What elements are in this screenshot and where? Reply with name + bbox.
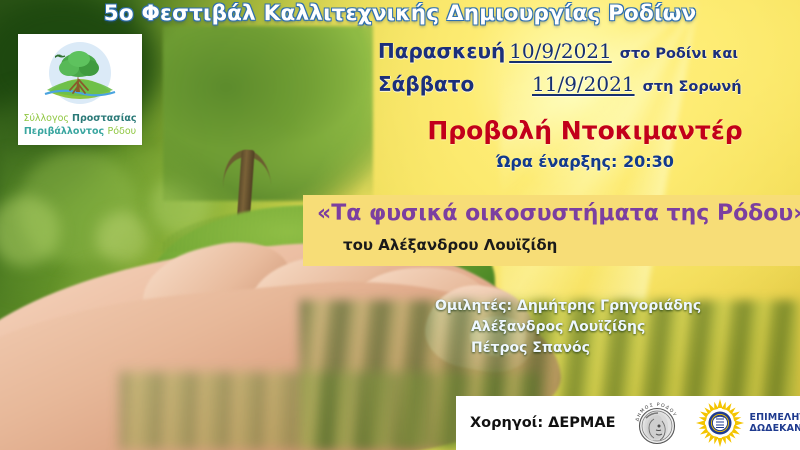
- film-title-band: «Τα φυσικά οικοσυστήματα της Ρόδου» του …: [303, 195, 800, 266]
- association-logo-line2-a: Περιβάλλοντος: [24, 126, 108, 137]
- film-author: του Αλέξανδρου Λουϊζίδη: [343, 236, 557, 254]
- bokeh-blob: [96, 212, 148, 264]
- association-logo-line2: Περιβάλλοντος Ρόδου: [18, 126, 142, 137]
- date-day-label: Σάββατο: [378, 69, 528, 99]
- dates-block: Παρασκευή 10/9/2021 στο Ροδίνι και Σάββα…: [378, 36, 790, 102]
- speaker-name-2: Αλέξανδρος Λουϊζίδης: [435, 317, 701, 338]
- association-logo-line1-a: Σύλλογος: [23, 113, 72, 124]
- speaker-name-3: Πέτρος Σπανός: [435, 338, 701, 359]
- date-day-label: Παρασκευή: [378, 36, 505, 66]
- speakers-block: Ομιλητές: Δημήτρης Γρηγοριάδης Αλέξανδρο…: [435, 296, 701, 359]
- speaker-name-1: Δημήτρης Γρηγοριάδης: [517, 298, 701, 314]
- chamber-text-line1: ΕΠΙΜΕΛΗΤΗΡΙΟ: [750, 412, 800, 423]
- chamber-logo-text: ΕΠΙΜΕΛΗΤΗΡΙΟ ΔΩΔΕΚΑΝΗΣΟΥ: [750, 412, 800, 434]
- chamber-logo-group: ΕΠΙΜΕΛΗΤΗΡΙΟ ΔΩΔΕΚΑΝΗΣΟΥ: [696, 399, 800, 447]
- sponsors-bar: Χορηγοί: ΔΕΡΜΑΕ ΔΗΜΟΣ ΡΟΔΟΥ: [456, 396, 800, 450]
- association-logo-line1: Σύλλογος Προστασίας: [18, 113, 142, 124]
- association-logo-line1-b: Προστασίας: [72, 113, 137, 124]
- chamber-text-line2: ΔΩΔΕΚΑΝΗΣΟΥ: [750, 423, 800, 434]
- poster-canvas: 5ο Φεστιβάλ Καλλιτεχνικής Δημιουργίας Ρο…: [0, 0, 800, 450]
- date-row-saturday: Σάββατο 11/9/2021 στη Σορωνή: [378, 69, 790, 102]
- tree-in-circle-icon: [37, 40, 123, 112]
- sponsors-label: Χορηγοί: ΔΕΡΜΑΕ: [470, 415, 616, 431]
- association-logo-line2-b: Ρόδου: [107, 126, 136, 137]
- start-time-label: Ώρα έναρξης: 20:30: [380, 152, 790, 171]
- documentary-heading: Προβολή Ντοκιμαντέρ: [380, 116, 790, 145]
- date-place: στη Σορωνή: [643, 72, 742, 102]
- epimelitirio-dodekanisou-sun-icon: [696, 399, 744, 447]
- date-value: 11/9/2021: [532, 69, 635, 99]
- association-logo: Σύλλογος Προστασίας Περιβάλλοντος Ρόδου: [18, 34, 142, 145]
- date-row-friday: Παρασκευή 10/9/2021 στο Ροδίνι και: [378, 36, 790, 69]
- speakers-line-1: Ομιλητές: Δημήτρης Γρηγοριάδης: [435, 296, 701, 317]
- date-value: 10/9/2021: [509, 36, 612, 66]
- film-title: «Τα φυσικά οικοσυστήματα της Ρόδου»: [317, 201, 790, 226]
- dimos-rodou-seal-icon: ΔΗΜΟΣ ΡΟΔΟΥ: [632, 398, 682, 448]
- festival-title: 5ο Φεστιβάλ Καλλιτεχνικής Δημιουργίας Ρο…: [0, 1, 800, 26]
- date-place: στο Ροδίνι και: [620, 39, 738, 69]
- speakers-label: Ομιλητές:: [435, 298, 512, 314]
